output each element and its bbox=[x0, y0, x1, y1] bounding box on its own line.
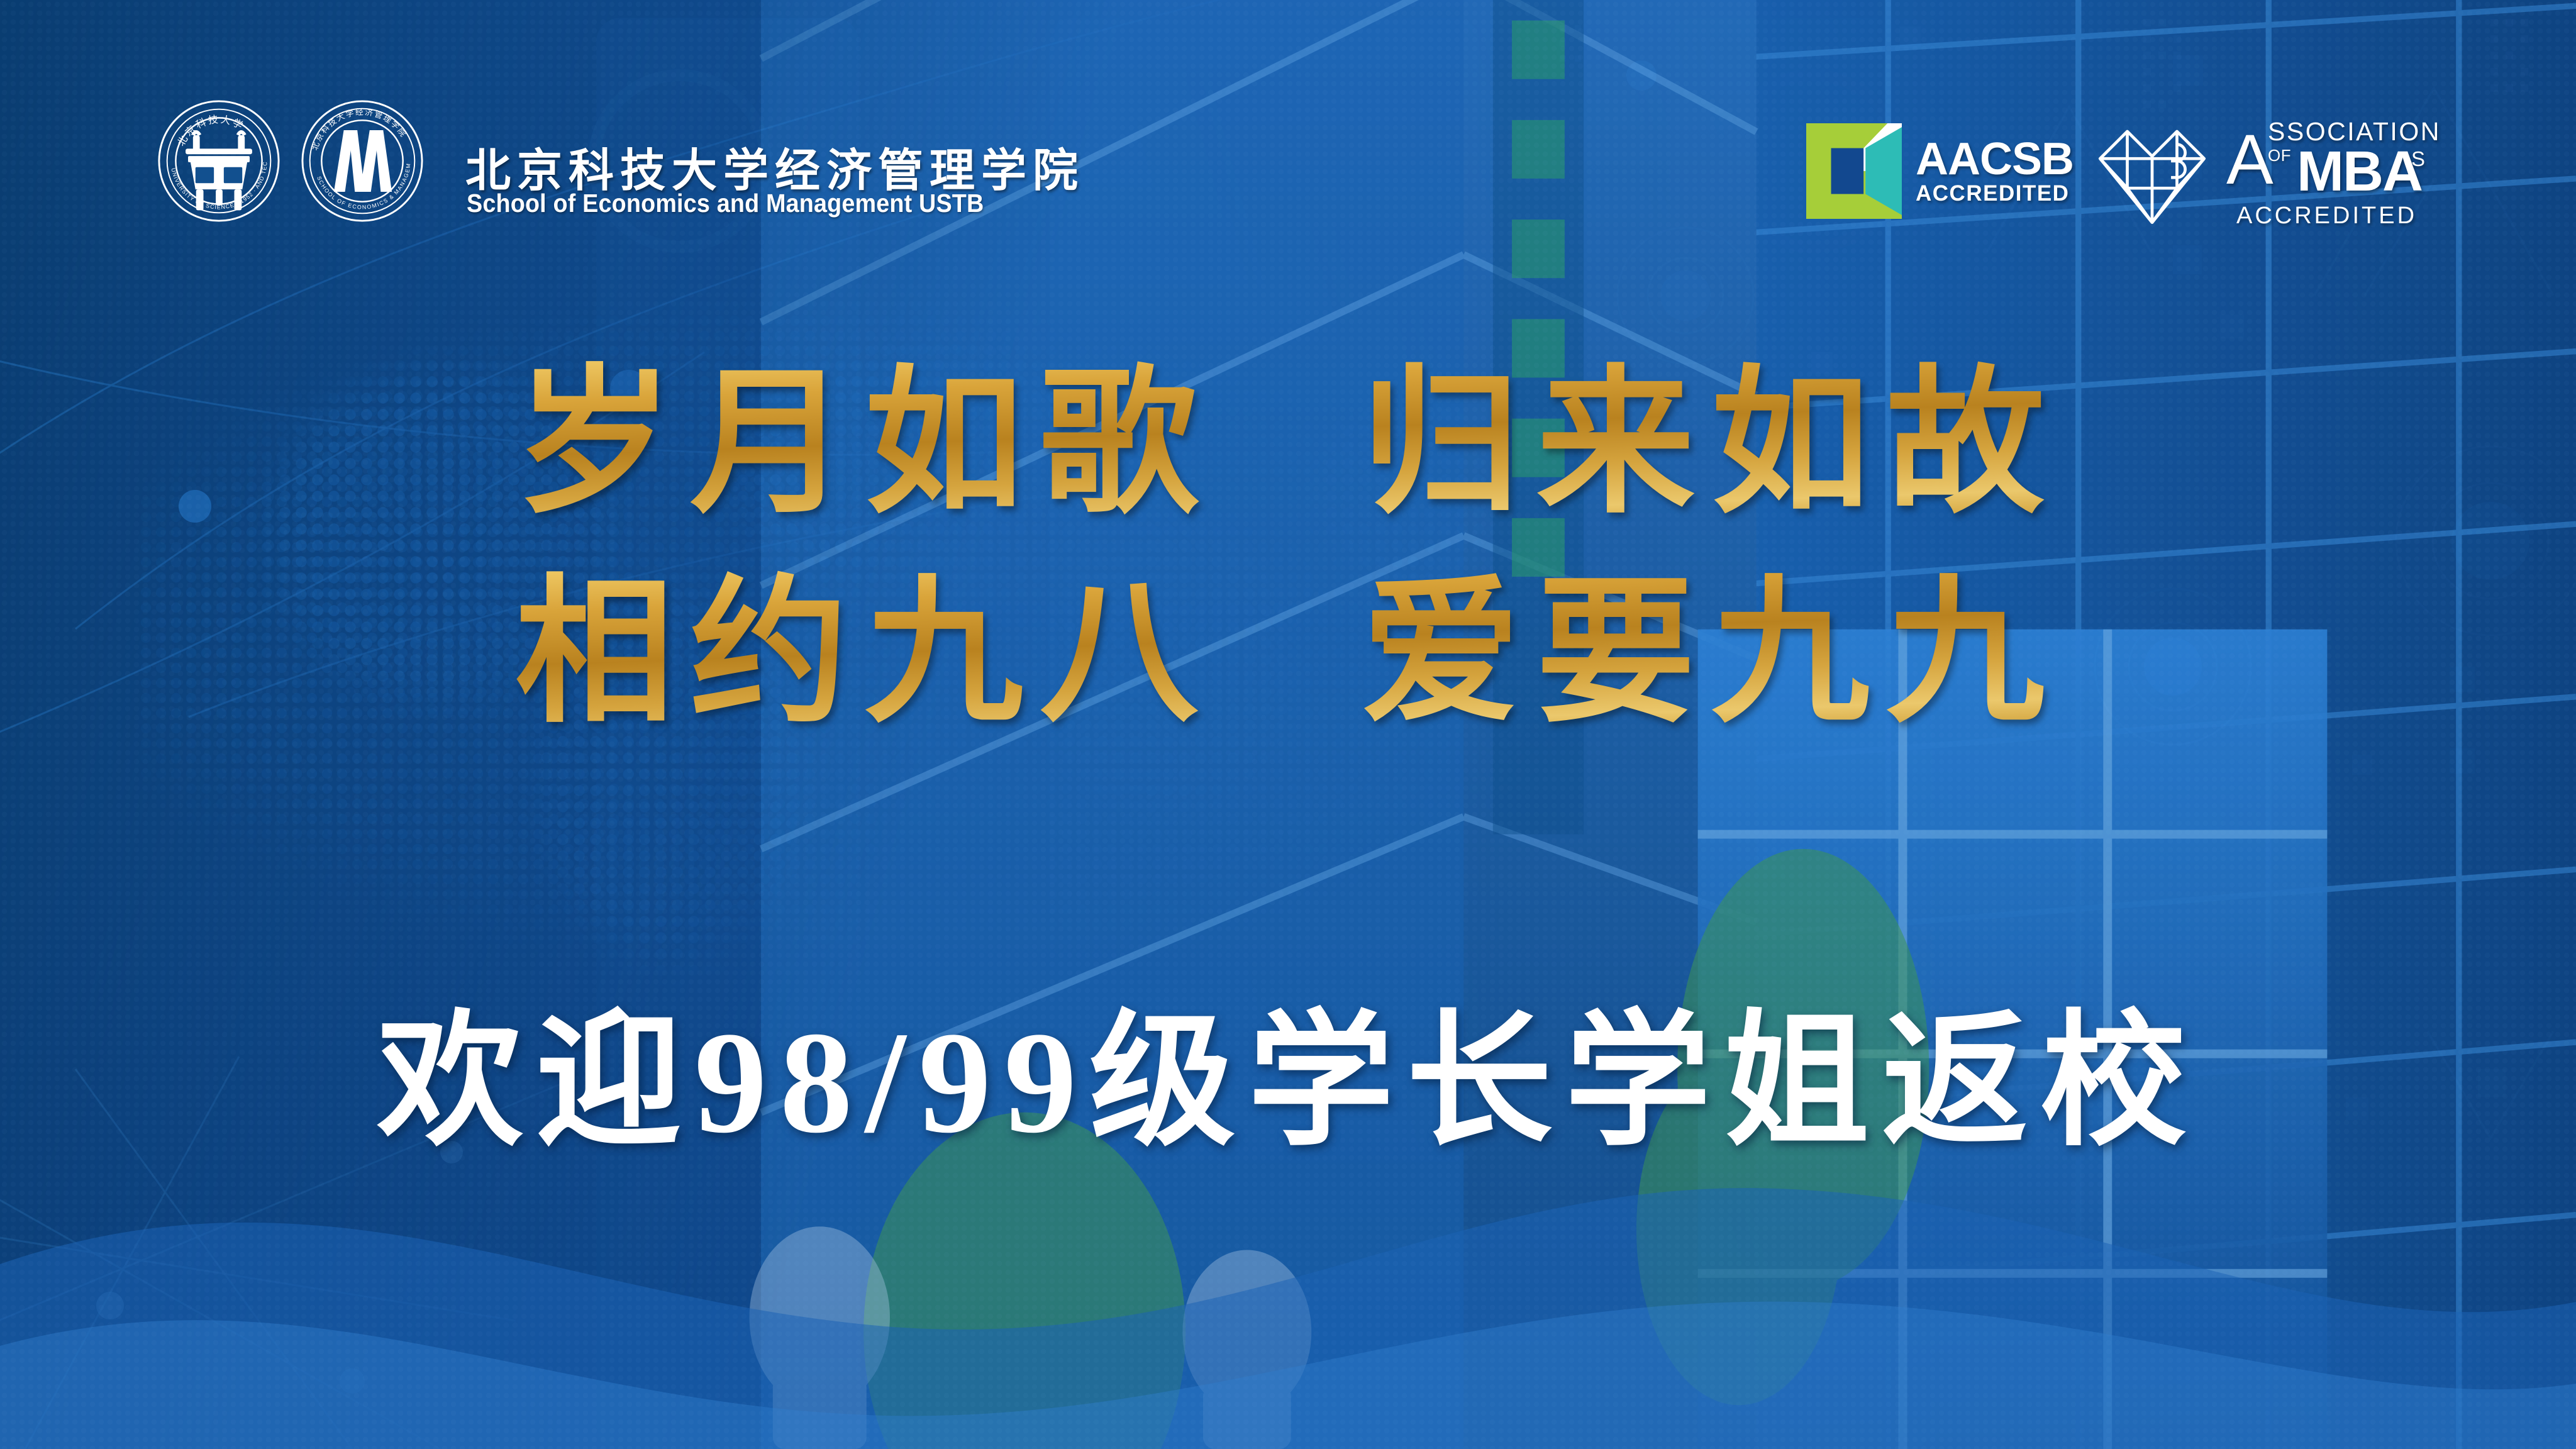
amba-status: ACCREDITED bbox=[2236, 203, 2417, 230]
headline-gold-line-1-part-1: 岁月如歌 bbox=[515, 356, 1214, 532]
svg-text:北京科技大学: 北京科技大学 bbox=[175, 114, 247, 148]
headline-gold-line-2-part-2: 爱要九九 bbox=[1362, 565, 2061, 741]
ustb-seal-icon: 北京科技大学 UNIVERSITY OF SCIENCE · 1952 · AN… bbox=[157, 99, 280, 223]
sem-seal-icon: 北京科技大学经济管理学院 SCHOOL OF ECONOMICS & MANAG… bbox=[301, 99, 424, 223]
amba-superscript: S bbox=[2411, 147, 2425, 171]
amba-mba: MBA bbox=[2297, 143, 2422, 200]
amba-of: OF bbox=[2268, 146, 2291, 165]
amba-diamond-icon bbox=[2092, 111, 2212, 230]
amba-label-group: A SSOCIATION OF MBA S ACCREDITED bbox=[2223, 111, 2430, 230]
headline-gold-group: 岁月如歌 归来如故 相约九八 爱要九九 bbox=[0, 340, 2576, 758]
aacsb-name: AACSB bbox=[1916, 138, 2074, 180]
aacsb-label-group: AACSB ACCREDITED bbox=[1916, 138, 2074, 203]
amba-a-letter: A bbox=[2226, 125, 2273, 195]
headline-gold-line-2-part-1: 相约九八 bbox=[515, 565, 1214, 741]
headline-gold-line-1-part-2: 归来如故 bbox=[1362, 356, 2061, 532]
poster-canvas: 北京科技大学 UNIVERSITY OF SCIENCE · 1952 · AN… bbox=[0, 0, 2576, 1449]
aacsb-accreditation-badge: AACSB ACCREDITED bbox=[1806, 123, 2074, 219]
headline-gold-line-2: 相约九八 爱要九九 bbox=[0, 549, 2576, 758]
aacsb-status: ACCREDITED bbox=[1916, 184, 2074, 204]
school-name-en: School of Economics and Management USTB bbox=[467, 189, 984, 218]
poster-header: 北京科技大学 UNIVERSITY OF SCIENCE · 1952 · AN… bbox=[0, 0, 2576, 214]
aacsb-logo-icon bbox=[1806, 123, 1902, 219]
amba-accreditation-badge: A SSOCIATION OF MBA S ACCREDITED bbox=[2092, 111, 2430, 230]
headline-gold-line-1: 岁月如歌 归来如故 bbox=[0, 340, 2576, 549]
welcome-message: 欢迎98/99级学长学姐返校 bbox=[0, 962, 2576, 1174]
